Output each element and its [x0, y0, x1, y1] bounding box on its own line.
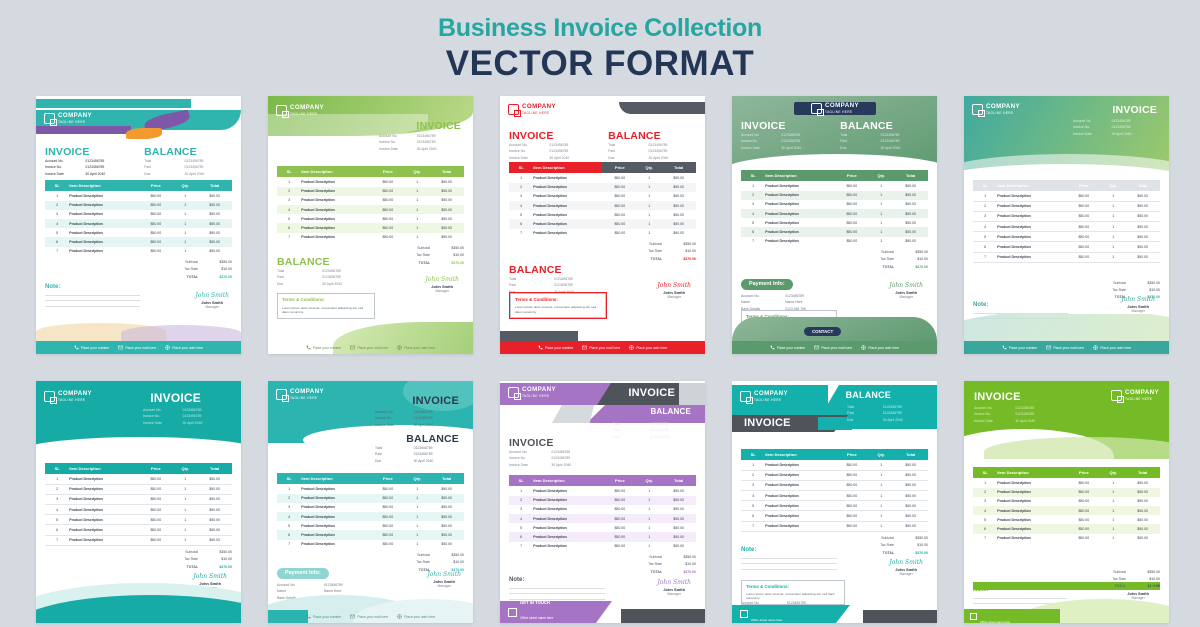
- footer-item[interactable]: Place your web here: [861, 345, 899, 350]
- cell-price: $50.00: [602, 496, 637, 505]
- cell-description: Product Description: [997, 201, 1066, 211]
- note-line: [741, 563, 837, 564]
- signature-script: John Smith: [657, 579, 691, 586]
- field-row: Invoice Date30 April 2040: [974, 418, 1064, 424]
- signature-script: John Smith: [1121, 583, 1155, 590]
- totals-value: $350.00: [430, 246, 464, 250]
- cell-total: $50.00: [1125, 478, 1160, 487]
- invoice-template-10[interactable]: INVOICE Account No.0123456789Invoice No.…: [964, 381, 1169, 623]
- table-row: 5 Product Description $50.00 1 $50.00: [973, 232, 1160, 242]
- cell-price: $50.00: [370, 214, 405, 223]
- invoice-table: SLItem Description Price Qty. Total 1 Pr…: [277, 473, 464, 549]
- cell-sl: 4: [277, 512, 301, 521]
- cell-description: Product Description: [69, 219, 138, 228]
- cell-total: $50.00: [1125, 488, 1160, 497]
- th-description: Item Description: [533, 162, 602, 173]
- cell-sl: 3: [277, 503, 301, 512]
- field-key: Due: [847, 417, 883, 423]
- cell-description: Product Description: [301, 196, 370, 205]
- cell-description: Product Description: [533, 183, 602, 192]
- cell-total: $50.00: [893, 227, 928, 236]
- cell-qty: 1: [173, 504, 197, 514]
- cell-description: Product Description: [765, 470, 834, 480]
- totals-value: $350.00: [198, 260, 232, 264]
- totals-block: Subtotal$350.00 Tax Rate$10.00 TOTAL$370…: [509, 241, 696, 263]
- cell-qty: 1: [869, 511, 893, 521]
- note-block: Note:: [741, 547, 837, 570]
- footer-item[interactable]: Place your mail here: [350, 345, 388, 350]
- cell-sl: 2: [509, 496, 533, 505]
- cell-price: $50.00: [138, 191, 173, 200]
- invoice-summary: INVOICE Account No.0123456789Invoice No.…: [45, 146, 133, 177]
- cell-sl: 6: [45, 525, 69, 535]
- footer-item[interactable]: Place your web here: [629, 345, 667, 350]
- cell-price: $50.00: [1066, 534, 1101, 543]
- table-header-row: SLItem Description Price Qty. Total: [509, 162, 696, 173]
- cell-description: Product Description: [533, 192, 602, 201]
- field-row: Invoice Date30 April 2040: [509, 462, 601, 468]
- cell-sl: 6: [973, 242, 997, 252]
- th-sl: SL: [277, 166, 301, 177]
- footer-item[interactable]: Place your web here: [165, 345, 203, 350]
- logo-company-name: COMPANY: [986, 104, 1020, 110]
- cell-qty: 1: [1101, 497, 1125, 506]
- cell-total: $50.00: [661, 201, 696, 210]
- cell-description: Product Description: [533, 210, 602, 219]
- cell-sl: 5: [973, 232, 997, 242]
- signature-title: Manager: [899, 572, 912, 576]
- cell-description: Product Description: [301, 494, 370, 503]
- cell-price: $50.00: [370, 540, 405, 549]
- table-row: 1 Product Description $50.00 1 $50.00: [973, 478, 1160, 487]
- cell-price: $50.00: [602, 505, 637, 514]
- cell-description: Product Description: [69, 237, 138, 246]
- cell-qty: 1: [405, 205, 429, 214]
- totals-value: $10.00: [1126, 577, 1160, 581]
- cell-sl: 3: [973, 497, 997, 506]
- invoice-heading: INVOICE: [416, 120, 461, 132]
- field-key: Due: [375, 458, 414, 464]
- footer-item[interactable]: Place your number: [1002, 345, 1037, 350]
- totals-value: $10.00: [1126, 288, 1160, 292]
- signature-script: John Smith: [657, 282, 691, 289]
- totals-value: $10.00: [198, 557, 232, 561]
- footer-label: Place your number: [545, 346, 573, 350]
- table-row: 7 Product Description $50.00 1 $50.00: [973, 252, 1160, 262]
- field-row: Invoice Date30 April 2040: [741, 145, 829, 151]
- cell-total: $50.00: [661, 542, 696, 551]
- signature-title: Manager: [205, 305, 218, 309]
- cell-price: $50.00: [138, 247, 173, 256]
- footer-label: Place your web here: [404, 346, 435, 350]
- contact-footer: Place your number Place your mail here P…: [732, 341, 937, 354]
- totals-label: Tax Rate: [856, 257, 894, 261]
- th-total: Total: [661, 162, 696, 173]
- th-description: Item Description: [533, 475, 602, 486]
- totals-row-subtotal: Subtotal$350.00: [509, 554, 696, 561]
- th-total: Total: [429, 473, 464, 484]
- footer-item[interactable]: Place your mail here: [1046, 345, 1084, 350]
- invoice-table: SLItem Description Price Qty. Total 1 Pr…: [741, 170, 928, 246]
- balance-summary: BALANCE Total0123456789Paid0123456789Due…: [840, 120, 928, 151]
- totals-row-subtotal: Subtotal$350.00: [973, 279, 1160, 286]
- contact-footer: Place your number Place your mail here P…: [268, 610, 473, 623]
- table-row: 3 Product Description $50.00 1 $50.00: [741, 480, 928, 490]
- th-sl: SL: [45, 180, 69, 191]
- location-icon: [508, 608, 517, 617]
- cell-price: $50.00: [834, 237, 869, 246]
- signature-title: Manager: [1131, 309, 1144, 313]
- cell-price: $50.00: [1066, 191, 1101, 201]
- table-header-row: SLItem Description Price Qty. Total: [741, 170, 928, 181]
- cell-total: $50.00: [661, 486, 696, 495]
- table-row: 2 Product Description $50.00 1 $50.00: [509, 183, 696, 192]
- cell-price: $50.00: [370, 196, 405, 205]
- footer-item[interactable]: Place your number: [74, 345, 109, 350]
- totals-value: $350.00: [1126, 281, 1160, 285]
- cell-price: $50.00: [602, 219, 637, 228]
- table-row: 5 Product Description $50.00 1 $50.00: [741, 501, 928, 511]
- th-description: Item Description: [301, 473, 370, 484]
- th-qty: Qty.: [869, 449, 893, 460]
- web-icon: [165, 345, 170, 350]
- totals-label: Subtotal: [856, 250, 894, 254]
- invoice-summary: INVOICE Account No.0123456789Invoice No.…: [741, 120, 829, 151]
- th-qty: Qty.: [405, 473, 429, 484]
- logo-tagline: TAGLINE HERE: [825, 111, 859, 114]
- cell-price: $50.00: [138, 228, 173, 237]
- cell-qty: 1: [1101, 211, 1125, 221]
- footer-item[interactable]: Place your mail here: [814, 345, 852, 350]
- th-description: Item Description: [69, 463, 138, 474]
- cell-sl: 4: [973, 221, 997, 231]
- cell-price: $50.00: [834, 218, 869, 227]
- cell-description: Product Description: [997, 191, 1066, 201]
- cell-total: $50.00: [197, 210, 232, 219]
- terms-label: Terms & Conditions:: [746, 584, 840, 591]
- cell-description: Product Description: [533, 229, 602, 238]
- table-row: 6 Product Description $50.00 1 $50.00: [277, 223, 464, 232]
- footer-item[interactable]: Place your mail here: [118, 345, 156, 350]
- cell-qty: 1: [173, 474, 197, 484]
- cell-description: Product Description: [533, 173, 602, 182]
- cell-description: Product Description: [997, 506, 1066, 515]
- footer-item[interactable]: Place your web here: [397, 614, 435, 619]
- totals-row-total: TOTAL$370.00: [45, 273, 232, 280]
- invoice-grid-row-1: COMPANYTAGLINE HERE INVOICE Account No.0…: [36, 96, 1168, 354]
- table-header-row: SLItem Description Price Qty. Total: [45, 463, 232, 474]
- table-row: 4 Product Description $50.00 1 $50.00: [277, 512, 464, 521]
- cell-total: $50.00: [893, 501, 928, 511]
- cell-total: $50.00: [893, 209, 928, 218]
- cell-description: Product Description: [765, 501, 834, 511]
- cell-price: $50.00: [138, 474, 173, 484]
- cell-total: $50.00: [893, 521, 928, 531]
- note-label: Note:: [509, 577, 605, 583]
- cell-sl: 6: [509, 219, 533, 228]
- field-key: Invoice Date: [741, 145, 781, 151]
- logo-tagline: TAGLINE HERE: [754, 399, 788, 402]
- th-price: Price: [834, 170, 869, 181]
- cell-price: $50.00: [370, 521, 405, 530]
- table-row: 1 Product Description $50.00 1 $50.00: [45, 474, 232, 484]
- cell-description: Product Description: [69, 525, 138, 535]
- cell-qty: 1: [637, 229, 661, 238]
- totals-value: $10.00: [430, 253, 464, 257]
- th-qty: Qty.: [1101, 180, 1125, 191]
- invoice-table: SLItem Description Price Qty. Total 1 Pr…: [973, 180, 1160, 263]
- logo-mark-icon: [972, 104, 983, 115]
- cell-sl: 1: [509, 173, 533, 182]
- totals-label: Subtotal: [856, 536, 894, 540]
- table-header-row: SLItem Description Price Qty. Total: [973, 180, 1160, 191]
- cell-qty: 1: [637, 523, 661, 532]
- totals-row-subtotal: Subtotal$350.00: [509, 241, 696, 248]
- cell-sl: 5: [741, 218, 765, 227]
- invoice-template-5[interactable]: COMPANYTAGLINE HERE INVOICE Account No.0…: [964, 96, 1169, 354]
- totals-label: Tax Rate: [160, 557, 198, 561]
- balance-heading: BALANCE: [406, 433, 459, 445]
- cell-qty: 1: [637, 192, 661, 201]
- invoice-template-6[interactable]: COMPANYTAGLINE HERE INVOICE Account No.0…: [36, 381, 241, 623]
- cell-qty: 1: [173, 228, 197, 237]
- field-row: Due30 April 2040: [840, 145, 928, 151]
- field-value: 30 April 2040: [883, 417, 903, 423]
- terms-label: Terms & Conditions:: [515, 297, 601, 304]
- table-row: 6 Product Description $50.00 1 $50.00: [741, 511, 928, 521]
- cell-price: $50.00: [1066, 524, 1101, 533]
- cell-price: $50.00: [602, 532, 637, 541]
- table-row: 2 Product Description $50.00 1 $50.00: [973, 488, 1160, 497]
- th-description: Item Description: [997, 180, 1066, 191]
- invoice-heading-2: INVOICE: [509, 437, 554, 449]
- payment-info-label: Payment Info:: [741, 279, 793, 290]
- footer-item[interactable]: Place your number: [770, 345, 805, 350]
- balance-heading: BALANCE: [277, 256, 375, 268]
- totals-row-tax rate: Tax Rate$10.00: [45, 266, 232, 273]
- cell-sl: 1: [45, 474, 69, 484]
- cell-price: $50.00: [138, 535, 173, 545]
- invoice-heading: INVOICE: [150, 391, 201, 405]
- cell-qty: 1: [1101, 534, 1125, 543]
- invoice-table: SLItem Description Price Qty. Total 1 Pr…: [45, 463, 232, 546]
- cell-total: $50.00: [661, 514, 696, 523]
- mail-icon: [350, 345, 355, 350]
- cell-sl: 4: [45, 504, 69, 514]
- cell-description: Product Description: [533, 505, 602, 514]
- invoice-heading: INVOICE: [509, 130, 597, 142]
- contact-badge: CONTACT: [804, 327, 841, 336]
- cell-description: Product Description: [301, 540, 370, 549]
- field-key: Invoice Date: [375, 422, 414, 428]
- totals-label: Tax Rate: [624, 249, 662, 253]
- cell-description: Product Description: [765, 200, 834, 209]
- cell-sl: 3: [509, 192, 533, 201]
- cell-total: $50.00: [1125, 534, 1160, 543]
- cell-description: Product Description: [997, 497, 1066, 506]
- cell-description: Product Description: [765, 237, 834, 246]
- cell-total: $50.00: [197, 228, 232, 237]
- cell-description: Product Description: [997, 242, 1066, 252]
- cell-total: $50.00: [893, 191, 928, 200]
- totals-label: TOTAL: [624, 257, 662, 261]
- cell-sl: 6: [45, 237, 69, 246]
- cell-qty: 1: [637, 532, 661, 541]
- mail-icon: [350, 614, 355, 619]
- footer-item[interactable]: Place your mail here: [582, 345, 620, 350]
- field-list: Account No.0123456789Invoice No.01234567…: [509, 142, 597, 161]
- th-qty: Qty.: [869, 170, 893, 181]
- table-row: 6 Product Description $50.00 1 $50.00: [45, 237, 232, 246]
- cell-sl: 2: [973, 488, 997, 497]
- table-row: 3 Product Description $50.00 1 $50.00: [277, 503, 464, 512]
- company-logo: COMPANYTAGLINE HERE: [740, 391, 788, 402]
- cell-description: Product Description: [997, 488, 1066, 497]
- logo-company-name: COMPANY: [754, 391, 788, 397]
- table-row: 4 Product Description $50.00 1 $50.00: [277, 205, 464, 214]
- table-row: 2 Product Description $50.00 1 $50.00: [45, 201, 232, 210]
- th-sl: SL: [741, 449, 765, 460]
- cell-qty: 1: [869, 200, 893, 209]
- terms-body: Lorem ipsum dolor sit amet, consectetur …: [746, 592, 835, 601]
- totals-row-total: TOTAL$370.00: [509, 568, 696, 575]
- cell-description: Product Description: [533, 219, 602, 228]
- company-logo: COMPANYTAGLINE HERE: [508, 104, 556, 115]
- totals-label: TOTAL: [160, 275, 198, 279]
- cell-qty: 1: [869, 490, 893, 500]
- cell-qty: 1: [173, 210, 197, 219]
- cell-description: Product Description: [301, 521, 370, 530]
- th-sl: SL: [741, 170, 765, 181]
- cell-total: $50.00: [429, 540, 464, 549]
- totals-label: TOTAL: [392, 261, 430, 265]
- web-icon: [397, 345, 402, 350]
- cell-total: $50.00: [429, 494, 464, 503]
- cell-qty: 1: [1101, 478, 1125, 487]
- totals-value: $370.00: [894, 551, 928, 555]
- invoice-template-9[interactable]: COMPANYTAGLINE HERE INVOICE BALANCE Tota…: [732, 381, 937, 623]
- footer-item[interactable]: Place your number: [306, 614, 341, 619]
- cell-qty: 1: [173, 494, 197, 504]
- footer-label: Place your mail here: [821, 346, 852, 350]
- cell-total: $50.00: [1125, 221, 1160, 231]
- invoice-template-4[interactable]: COMPANYTAGLINE HERE INVOICE Account No.0…: [732, 96, 937, 354]
- cell-total: $50.00: [197, 191, 232, 200]
- cell-description: Product Description: [765, 460, 834, 470]
- cell-total: $50.00: [661, 505, 696, 514]
- note-line: [45, 306, 140, 307]
- totals-value: $370.00: [894, 265, 928, 269]
- cell-price: $50.00: [834, 480, 869, 490]
- signature-title: Manager: [667, 295, 680, 299]
- cell-price: $50.00: [370, 187, 405, 196]
- field-list: Total0123456789Paid0123456789Due30 April…: [847, 404, 925, 423]
- th-qty: Qty.: [637, 162, 661, 173]
- totals-value: $350.00: [1126, 570, 1160, 574]
- invoice-template-3[interactable]: COMPANYTAGLINE HERE INVOICE Account No.0…: [500, 96, 705, 354]
- cell-description: Product Description: [69, 228, 138, 237]
- totals-block: Subtotal$350.00 Tax Rate$10.00 TOTAL$370…: [509, 554, 696, 576]
- cell-price: $50.00: [602, 210, 637, 219]
- th-qty: Qty.: [173, 463, 197, 474]
- logo-mark-icon: [44, 391, 55, 402]
- footer-item[interactable]: Place your number: [538, 345, 573, 350]
- th-total: Total: [1125, 467, 1160, 478]
- cell-description: Product Description: [301, 233, 370, 242]
- footer-label: Place your mail here: [357, 615, 388, 619]
- cell-sl: 2: [741, 191, 765, 200]
- cell-price: $50.00: [1066, 488, 1101, 497]
- cell-price: $50.00: [834, 191, 869, 200]
- invoice-template-7[interactable]: COMPANYTAGLINE HERE INVOICE Account No.0…: [268, 381, 473, 623]
- footer-item[interactable]: Place your number: [306, 345, 341, 350]
- table-header-row: SLItem Description Price Qty. Total: [509, 475, 696, 486]
- table-row: 3 Product Description $50.00 1 $50.00: [973, 211, 1160, 221]
- table-row: 2 Product Description $50.00 1 $50.00: [45, 484, 232, 494]
- cell-qty: 1: [637, 173, 661, 182]
- cell-qty: 1: [173, 515, 197, 525]
- cell-sl: 1: [509, 486, 533, 495]
- cell-qty: 1: [637, 505, 661, 514]
- invoice-template-1[interactable]: COMPANYTAGLINE HERE INVOICE Account No.0…: [36, 96, 241, 354]
- field-key: Invoice Date: [509, 155, 549, 161]
- th-total: Total: [893, 449, 928, 460]
- footer-item[interactable]: Place your mail here: [350, 614, 388, 619]
- cell-sl: 3: [741, 200, 765, 209]
- table-row: 4 Product Description $50.00 1 $50.00: [509, 201, 696, 210]
- cell-price: $50.00: [370, 223, 405, 232]
- field-row: Due30 April 2040: [613, 434, 693, 440]
- cell-sl: 3: [277, 196, 301, 205]
- cell-total: $50.00: [429, 223, 464, 232]
- signature-script: John Smith: [425, 276, 459, 283]
- logo-tagline: TAGLINE HERE: [1125, 398, 1159, 401]
- cell-price: $50.00: [370, 233, 405, 242]
- cell-description: Product Description: [69, 210, 138, 219]
- invoice-template-2[interactable]: COMPANYTAGLINE HERE INVOICE Account No.0…: [268, 96, 473, 354]
- th-price: Price: [370, 166, 405, 177]
- note-block: Note:: [45, 284, 140, 307]
- table-row: 1 Product Description $50.00 1 $50.00: [741, 460, 928, 470]
- cell-sl: 6: [509, 532, 533, 541]
- th-total: Total: [893, 170, 928, 181]
- company-logo: COMPANYTAGLINE HERE: [276, 105, 324, 116]
- cell-total: $50.00: [197, 515, 232, 525]
- cell-sl: 4: [277, 205, 301, 214]
- totals-row-tax rate: Tax Rate$10.00: [45, 556, 232, 563]
- cell-qty: 1: [173, 525, 197, 535]
- phone-icon: [74, 345, 79, 350]
- invoice-template-8[interactable]: COMPANYTAGLINE HERE INVOICE BALANCE Tota…: [500, 381, 705, 623]
- th-qty: Qty.: [637, 475, 661, 486]
- table-row: 2 Product Description $50.00 1 $50.00: [741, 470, 928, 480]
- cell-total: $50.00: [197, 484, 232, 494]
- cell-price: $50.00: [138, 494, 173, 504]
- cell-sl: 3: [741, 480, 765, 490]
- table-row: 6 Product Description $50.00 1 $50.00: [973, 524, 1160, 533]
- company-logo: COMPANYTAGLINE HERE: [972, 104, 1020, 115]
- get-in-touch-sub: Office street name here: [980, 620, 1010, 623]
- cell-price: $50.00: [834, 470, 869, 480]
- footer-item[interactable]: Place your web here: [1093, 345, 1131, 350]
- field-key: Due: [840, 145, 880, 151]
- field-list: Total0123456789Paid0123456789Due30 April…: [840, 132, 928, 151]
- field-list: Account No.0123456789Invoice No.01234567…: [45, 158, 133, 177]
- footer-item[interactable]: Place your web here: [397, 345, 435, 350]
- cell-total: $50.00: [197, 504, 232, 514]
- invoice-table: SLItem Description Price Qty. Total 1 Pr…: [973, 467, 1160, 543]
- cell-price: $50.00: [138, 201, 173, 210]
